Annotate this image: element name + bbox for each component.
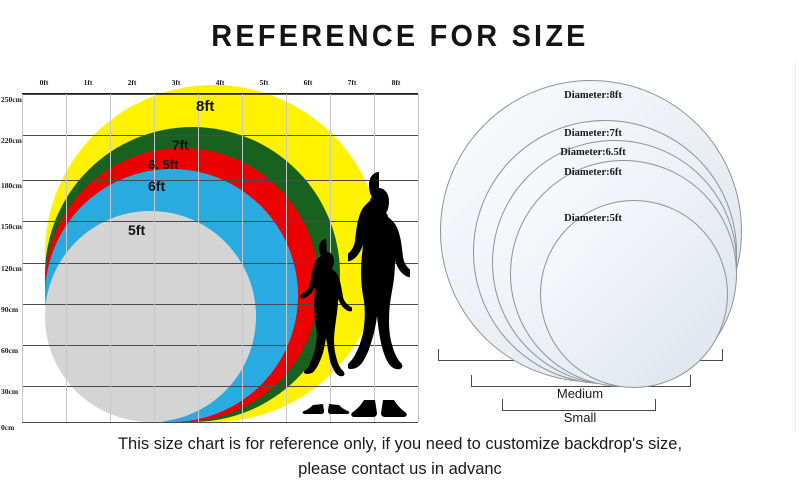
disc-label-8ft: Diameter:8ft [564, 90, 622, 101]
x-tick-4ft: 4ft [216, 78, 225, 87]
ring-label-8ft: 8ft [196, 98, 214, 115]
disc-5ft [540, 200, 728, 388]
disc-diagram: Diameter:8ft Diameter:7ft Diameter:6.5ft… [430, 62, 800, 362]
disc-label-7ft: Diameter:7ft [564, 128, 622, 139]
vgridline [154, 94, 155, 422]
vgridline [242, 94, 243, 422]
x-tick-5ft: 5ft [260, 78, 269, 87]
x-tick-0ft: 0ft [40, 78, 49, 87]
x-tick-6ft: 6ft [304, 78, 313, 87]
y-tick-30cm: 30cm [1, 387, 18, 396]
vgridline [418, 94, 419, 422]
x-tick-7ft: 7ft [348, 78, 357, 87]
child-silhouette [300, 237, 352, 422]
x-tick-1ft: 1ft [84, 78, 93, 87]
bracket-label-small: Small [564, 410, 597, 425]
y-tick-220cm: 220cm [1, 136, 22, 145]
size-reference-chart: REFERENCE FOR SIZE [0, 0, 800, 488]
x-tick-8ft: 8ft [392, 78, 401, 87]
adult-silhouette [348, 170, 410, 422]
y-tick-60cm: 60cm [1, 346, 18, 355]
page-title: REFERENCE FOR SIZE [28, 18, 772, 54]
ring-label-6ft: 6ft [148, 178, 165, 194]
footer-caption: This size chart is for reference only, i… [0, 432, 800, 482]
y-tick-150cm: 150cm [1, 222, 22, 231]
vgridline [66, 94, 67, 422]
ring-label-6p5ft: 6. 5ft [148, 157, 178, 172]
vgridline [110, 94, 111, 422]
panel-divider [795, 62, 796, 432]
x-tick-2ft: 2ft [128, 78, 137, 87]
vgridline [286, 94, 287, 422]
gridline-220 [22, 135, 418, 136]
left-scale-chart: 0ft 1ft 2ft 3ft 4ft 5ft 6ft 7ft 8ft 250c… [0, 72, 430, 430]
y-tick-0cm: 0cm [1, 423, 14, 432]
disc-label-6ft: Diameter:6ft [564, 167, 622, 178]
ring-label-5ft: 5ft [128, 222, 145, 238]
vgridline [198, 94, 199, 422]
disc-label-6p5ft: Diameter:6.5ft [560, 147, 626, 158]
y-tick-90cm: 90cm [1, 305, 18, 314]
vgridline [22, 94, 23, 422]
ring-label-7ft: 7ft [172, 138, 189, 153]
gridline-250 [22, 94, 418, 95]
gridline-0 [22, 422, 418, 423]
y-tick-120cm: 120cm [1, 264, 22, 273]
caption-line-2: please contact us in advanc [0, 457, 800, 482]
y-tick-180cm: 180cm [1, 181, 22, 190]
y-tick-250cm: 250cm [1, 95, 22, 104]
x-tick-3ft: 3ft [172, 78, 181, 87]
disc-label-5ft: Diameter:5ft [564, 213, 622, 224]
caption-line-1: This size chart is for reference only, i… [0, 432, 800, 457]
